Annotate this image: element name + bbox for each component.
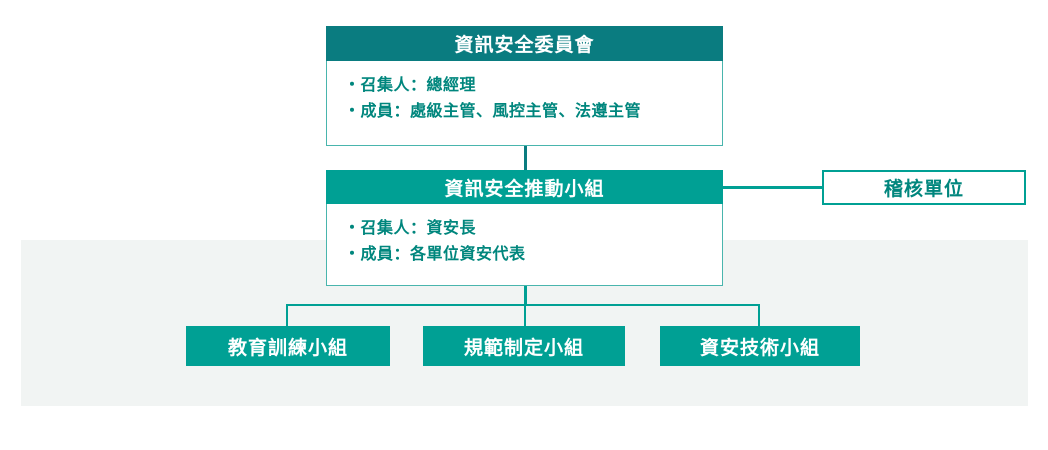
promotion-team-body: ・召集人：資安長 ・成員：各單位資安代表 [327,204,722,267]
promotion-team-convener-line: ・召集人：資安長 [344,215,722,241]
connector-subgroup-bus [286,304,760,306]
org-chart-diagram: 資訊安全委員會 ・召集人：總經理 ・成員：處級主管、風控主管、法遵主管 資訊安全… [0,0,1048,450]
committee-box: 資訊安全委員會 ・召集人：總經理 ・成員：處級主管、風控主管、法遵主管 [326,26,723,146]
subgroup-box-security-technology: 資安技術小組 [660,326,860,366]
promotion-team-box: 資訊安全推動小組 ・召集人：資安長 ・成員：各單位資安代表 [326,170,723,286]
connector-bus-to-subgroup-0 [286,304,288,326]
connector-team-to-audit [723,186,822,189]
audit-unit-box: 稽核單位 [822,170,1026,205]
subgroup-box-education-training: 教育訓練小組 [186,326,390,366]
connector-bus-to-subgroup-1 [524,304,526,326]
subgroup-box-standards-definition: 規範制定小組 [423,326,625,366]
committee-header: 資訊安全委員會 [326,26,723,61]
connector-bus-to-subgroup-2 [758,304,760,326]
connector-team-stem [524,286,527,306]
promotion-team-members-line: ・成員：各單位資安代表 [344,241,722,267]
committee-body: ・召集人：總經理 ・成員：處級主管、風控主管、法遵主管 [327,61,722,124]
committee-members-line: ・成員：處級主管、風控主管、法遵主管 [344,98,722,124]
connector-committee-to-team [524,146,527,170]
committee-convener-line: ・召集人：總經理 [344,72,722,98]
promotion-team-header: 資訊安全推動小組 [326,170,723,204]
